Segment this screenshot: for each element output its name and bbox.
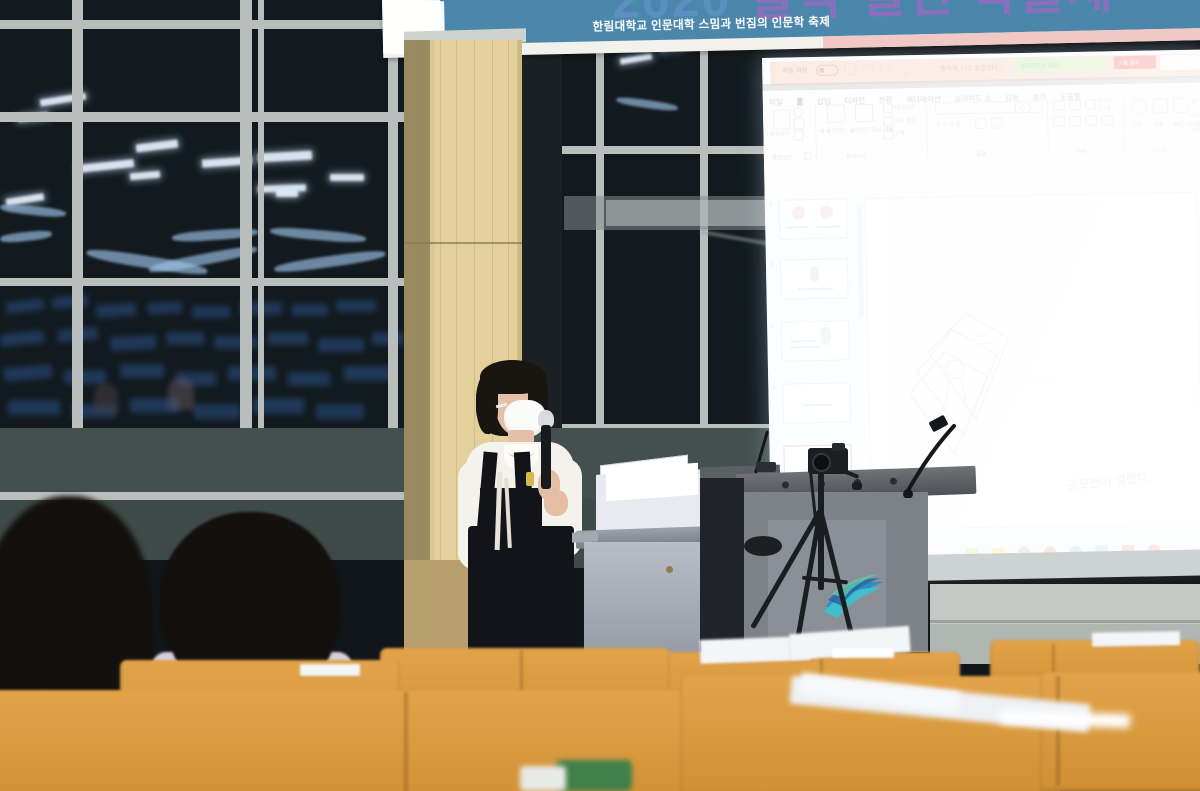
window-mullion [0, 112, 404, 122]
thumbnail-number: 6 [772, 386, 775, 392]
align-center-icon[interactable] [1069, 116, 1081, 126]
window-mullion [0, 20, 404, 29]
format-painter-icon[interactable] [793, 130, 803, 140]
gooseneck-microphone [900, 418, 980, 498]
new-slide-icon[interactable] [827, 104, 845, 122]
quick-styles-icon[interactable] [1173, 98, 1188, 113]
replace-label[interactable]: 바꾸기 [1191, 111, 1200, 119]
autosave-label[interactable]: 자동 저장 [782, 65, 807, 74]
tab-home[interactable]: 홈 [796, 96, 803, 107]
align-left-icon[interactable] [1053, 116, 1065, 126]
find-label[interactable]: 찾기 [1191, 98, 1200, 106]
bullets-icon[interactable] [1053, 100, 1065, 110]
reflected-seating-block [0, 288, 404, 428]
reset-label: 다시 설정 [894, 116, 916, 124]
font-name-box[interactable] [935, 101, 1015, 115]
camera-lens [812, 453, 831, 472]
redo-icon[interactable] [880, 63, 891, 73]
paste-label: 붙여넣기 [769, 129, 790, 137]
slide-thumbnail[interactable] [779, 198, 848, 239]
copy-icon[interactable] [793, 118, 804, 129]
window-mullion [258, 0, 264, 500]
slide-thumbnail[interactable] [780, 258, 849, 299]
document-title: 멀꺽과_나는 둘멀렸다_ [940, 62, 1001, 72]
section-label: 구역 [894, 129, 904, 137]
seat-divider [404, 692, 408, 791]
av-desk-shadow [700, 478, 744, 654]
thumbnail-number-selected: 7 [773, 448, 776, 454]
decrease-indent-icon[interactable] [1085, 100, 1096, 110]
slide-handwritten-text: 공모전이 열렸다. [1067, 468, 1153, 494]
arrange-icon[interactable] [1153, 98, 1168, 113]
camera-mount [832, 443, 845, 451]
save-icon[interactable] [844, 63, 856, 75]
undo-icon[interactable] [862, 63, 873, 73]
green-object [556, 760, 632, 791]
clipboard-dialog-launcher[interactable] [804, 152, 811, 159]
autosave-toggle[interactable] [816, 65, 838, 76]
video-camera [808, 448, 848, 474]
dress-accent [526, 472, 534, 486]
tab-file[interactable]: 파일 [769, 97, 783, 108]
group-label-slides: 슬라이드 [846, 151, 868, 160]
slide-thumbnail[interactable] [781, 320, 850, 361]
cable-coil [744, 536, 782, 556]
layout-icon[interactable] [883, 103, 893, 113]
handheld-microphone [538, 410, 554, 488]
seat-divider [1056, 676, 1060, 786]
text-highlight-icon[interactable] [975, 118, 986, 129]
ceiling-light-reflection [276, 190, 298, 197]
thumbnail-number: 3 [769, 202, 772, 208]
presenter-hair-side [476, 374, 498, 434]
group-label-drawing: 그리기 [1150, 145, 1166, 154]
window-glass-highlight [606, 200, 766, 226]
auditorium-seat-row-foreground [1040, 672, 1200, 791]
layout-label: 레이아웃 [894, 103, 915, 111]
av-connector [756, 462, 776, 472]
paper-label [832, 648, 894, 658]
paper-on-seat [1092, 631, 1180, 647]
numbering-icon[interactable] [1069, 100, 1081, 110]
window-mullion [388, 0, 398, 500]
floor-edge-line [930, 620, 1200, 623]
tripod-handle [852, 482, 862, 490]
group-label-clipboard: 클립보드 [772, 152, 794, 161]
paper-on-seat [300, 664, 360, 676]
select-label[interactable]: 선택 [1191, 126, 1200, 134]
window-mullion [0, 278, 404, 286]
ceiling-light-reflection [330, 174, 364, 181]
thumbnail-number: 5 [771, 324, 774, 330]
present-icon[interactable] [898, 62, 910, 73]
white-object [520, 766, 566, 791]
window-mullion [562, 146, 772, 154]
window-controls[interactable] [1160, 55, 1200, 71]
thumbnail-scrollbar[interactable] [857, 206, 864, 318]
increase-indent-icon[interactable] [1099, 99, 1110, 109]
reset-icon[interactable] [883, 116, 893, 126]
font-color-icon[interactable] [991, 117, 1002, 128]
window-mullion [240, 0, 252, 500]
group-label-font: 글꼴 [976, 149, 987, 158]
paste-icon[interactable] [773, 109, 790, 129]
font-style-buttons[interactable]: 가 가 가 가 [935, 120, 960, 128]
section-icon[interactable] [883, 129, 893, 139]
shapes-label: 도형 [1131, 121, 1141, 129]
search-value: 슬라이드쇼 설정... [1020, 61, 1062, 70]
thumbnail-number: 4 [770, 262, 773, 268]
slide-thumbnail[interactable] [782, 382, 851, 423]
window-mullion [72, 0, 83, 500]
arrange-label: 정렬 [1153, 120, 1163, 128]
stop-recording-label: 기록 중지 [1118, 59, 1139, 67]
photograph-scene: 자동 저장 멀꺽과_나는 둘멀렸다_ 슬라이드쇼 설정... 기록 중지 파일 … [0, 0, 1200, 791]
align-right-icon[interactable] [1085, 116, 1097, 126]
presenter-hand [544, 490, 568, 516]
reuse-slides-icon[interactable] [855, 104, 873, 122]
group-label-paragraph: 단락 [1076, 147, 1087, 156]
justify-icon[interactable] [1101, 115, 1113, 125]
new-slide-label: 새 슬라이드 [819, 126, 846, 135]
